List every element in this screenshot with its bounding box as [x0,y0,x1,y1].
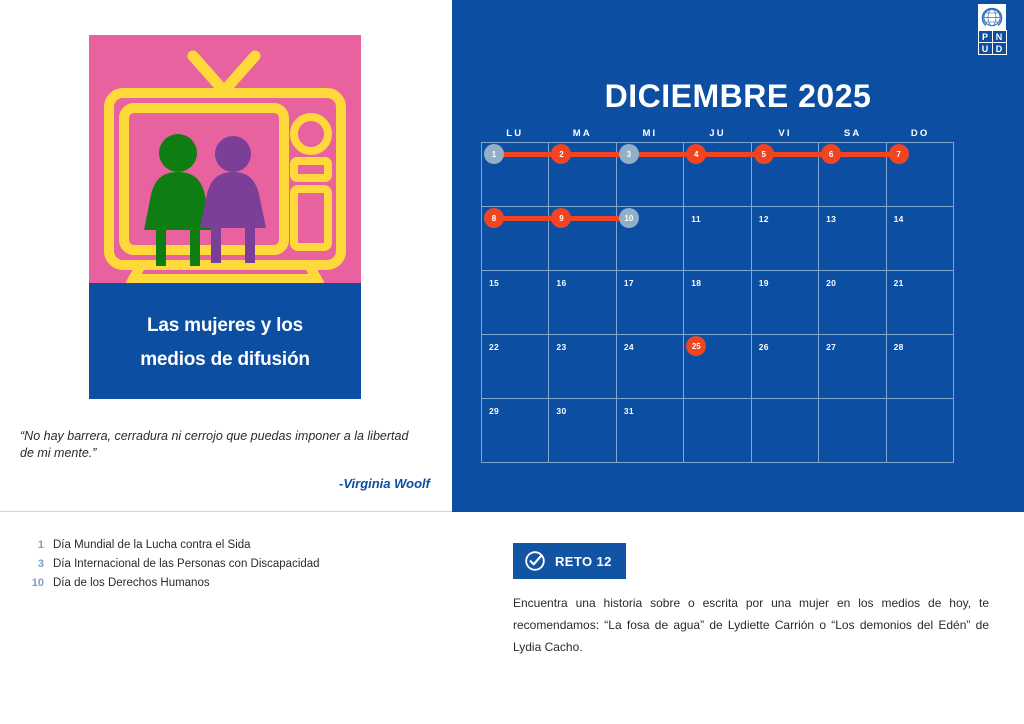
day-number: 18 [691,278,701,288]
weekday-header-lu: LU [481,128,549,139]
legend-event-name: Día Internacional de las Personas con Di… [53,556,320,573]
calendar-day-empty [684,399,751,463]
weekday-header-ju: JU [684,128,752,139]
calendar-day-18[interactable]: 18 [684,271,751,335]
legend-day-number: 3 [22,558,44,570]
pnud-letters: P N U D [978,30,1007,55]
pnud-letter-p: P [979,31,993,43]
weekday-header-sa: SA [819,128,887,139]
calendar-day-19[interactable]: 19 [752,271,819,335]
legend-event-name: Día de los Derechos Humanos [53,575,210,592]
calendar-day-30[interactable]: 30 [549,399,616,463]
reto-badge-label: RETO 12 [555,554,612,569]
poster-illustration [89,35,361,283]
calendar-day-empty [819,399,886,463]
day-number: 27 [826,342,836,352]
calendar-day-16[interactable]: 16 [549,271,616,335]
quote-text: “No hay barrera, cerradura ni cerrojo qu… [20,428,420,462]
calendar-day-26[interactable]: 26 [752,335,819,399]
day-number: 30 [556,406,566,416]
day-number: 21 [894,278,904,288]
theme-poster: Las mujeres y los medios de difusión [89,35,361,399]
pnud-letter-u: U [979,43,993,55]
legend-item: 10Día de los Derechos Humanos [22,575,442,592]
day-number: 17 [624,278,634,288]
day-number: 16 [556,278,566,288]
weekday-header-ma: MA [549,128,617,139]
quote-author: -Virginia Woolf [20,476,430,491]
calendar-day-empty [887,399,954,463]
calendar-day-14[interactable]: 14 [887,207,954,271]
day-number: 28 [894,342,904,352]
poster-title-line-1: Las mujeres y los [147,309,303,343]
calendar-day-11[interactable]: 11 [684,207,751,271]
check-circle-icon [524,550,546,572]
calendar-day-21[interactable]: 21 [887,271,954,335]
pnud-letter-d: D [993,43,1007,55]
poster-title-line-2: medios de difusión [140,343,310,377]
day-marker-red[interactable]: 4 [686,144,706,164]
calendar-day-22[interactable]: 22 [482,335,549,399]
section-divider [0,511,452,512]
day-marker-red[interactable]: 5 [754,144,774,164]
pnud-letter-n: N [993,31,1007,43]
day-number: 29 [489,406,499,416]
pnud-logo: P N U D [972,4,1012,56]
day-number: 13 [826,214,836,224]
poster-title: Las mujeres y los medios de difusión [89,283,361,399]
day-number: 24 [624,342,634,352]
day-marker-red[interactable]: 7 [889,144,909,164]
calendar-day-25[interactable]: 25 [684,335,751,399]
calendar-day-23[interactable]: 23 [549,335,616,399]
calendar-day-12[interactable]: 12 [752,207,819,271]
legend-item: 3Día Internacional de las Personas con D… [22,556,442,573]
calendar-day-13[interactable]: 13 [819,207,886,271]
calendar-day-7[interactable]: 7 [887,143,954,207]
day-number: 15 [489,278,499,288]
weekday-header-mi: MI [616,128,684,139]
day-number: 19 [759,278,769,288]
day-marker-red[interactable]: 6 [821,144,841,164]
calendar-day-27[interactable]: 27 [819,335,886,399]
calendar-grid: 1234567891011121314151617181920212223242… [481,142,954,463]
calendar-day-28[interactable]: 28 [887,335,954,399]
weekday-header-row: LUMAMIJUVISADO [481,128,954,139]
day-marker-red[interactable]: 8 [484,208,504,228]
calendar-day-empty [752,399,819,463]
challenge-text: Encuentra una historia sobre o escrita p… [513,592,989,658]
weekday-header-vi: VI [751,128,819,139]
calendar-day-17[interactable]: 17 [617,271,684,335]
calendar-day-31[interactable]: 31 [617,399,684,463]
day-marker-red[interactable]: 25 [686,336,706,356]
day-marker-gray[interactable]: 3 [619,144,639,164]
day-marker-gray[interactable]: 1 [484,144,504,164]
day-number: 22 [489,342,499,352]
day-number: 26 [759,342,769,352]
calendar-day-20[interactable]: 20 [819,271,886,335]
legend-day-number: 1 [22,539,44,551]
calendar-day-10[interactable]: 10 [617,207,684,271]
legend-event-name: Día Mundial de la Lucha contra el Sida [53,537,251,554]
calendar-day-24[interactable]: 24 [617,335,684,399]
calendar-day-15[interactable]: 15 [482,271,549,335]
day-marker-red[interactable]: 9 [551,208,571,228]
events-legend: 1Día Mundial de la Lucha contra el Sida3… [22,537,442,594]
day-marker-red[interactable]: 2 [551,144,571,164]
calendar-title: DICIEMBRE 2025 [452,78,1024,115]
un-emblem-icon [978,4,1006,30]
day-number: 31 [624,406,634,416]
day-number: 12 [759,214,769,224]
weekday-header-do: DO [886,128,954,139]
calendar-day-29[interactable]: 29 [482,399,549,463]
reto-badge[interactable]: RETO 12 [513,543,626,579]
legend-item: 1Día Mundial de la Lucha contra el Sida [22,537,442,554]
tv-illustration-icon [89,35,361,283]
day-marker-gray[interactable]: 10 [619,208,639,228]
day-number: 20 [826,278,836,288]
calendar: LUMAMIJUVISADO 1234567891011121314151617… [481,128,954,463]
day-number: 23 [556,342,566,352]
legend-day-number: 10 [22,577,44,589]
day-number: 14 [894,214,904,224]
calendar-page: P N U D DICIEMBRE 2025 LUMAMIJUVISADO 12… [0,0,1024,724]
day-number: 11 [691,214,701,224]
